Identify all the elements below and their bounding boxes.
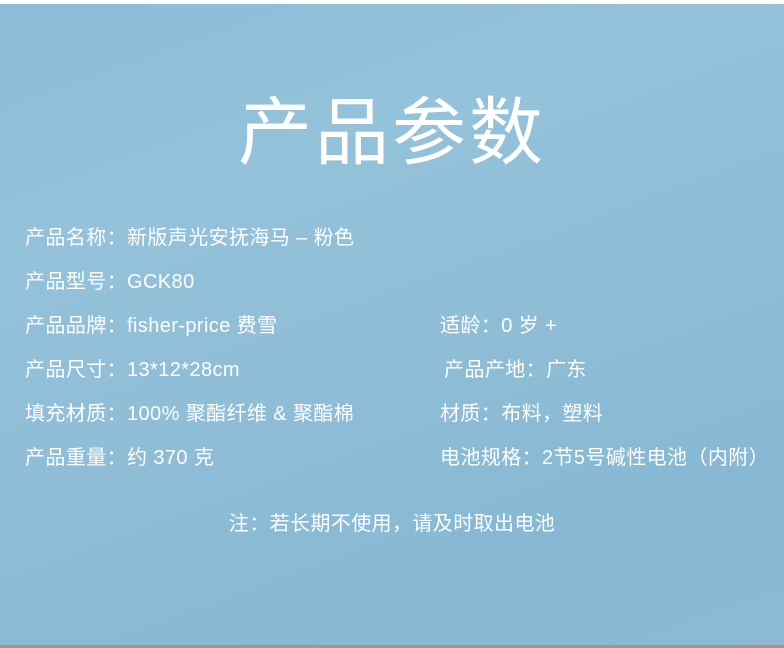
table-row: 产品型号：GCK80 [0, 268, 784, 312]
spec-filling-material: 填充材质：100% 聚酯纤维 & 聚酯棉 [25, 400, 354, 428]
table-row: 产品重量：约 370 克 电池规格：2节5号碱性电池（内附） [0, 444, 784, 488]
table-row: 产品品牌：fisher-price 费雪 适龄：0 岁 + [0, 312, 784, 356]
spec-product-size: 产品尺寸：13*12*28cm [25, 356, 240, 384]
spec-battery-spec: 电池规格：2节5号碱性电池（内附） [440, 444, 769, 472]
spec-suitable-age: 适龄：0 岁 + [440, 312, 557, 340]
table-row: 产品尺寸：13*12*28cm 产品产地：广东 [0, 356, 784, 400]
spec-product-model: 产品型号：GCK80 [25, 268, 195, 296]
spec-product-brand: 产品品牌：fisher-price 费雪 [25, 312, 277, 340]
spec-product-weight: 产品重量：约 370 克 [25, 444, 214, 472]
footer-note: 注：若长期不使用，请及时取出电池 [0, 510, 784, 538]
top-edge-strip [0, 0, 784, 4]
spec-table: 产品名称：新版声光安抚海马 – 粉色 产品型号：GCK80 产品品牌：fishe… [0, 224, 784, 488]
table-row: 产品名称：新版声光安抚海马 – 粉色 [0, 224, 784, 268]
spec-place-of-origin: 产品产地：广东 [444, 356, 587, 384]
spec-material: 材质：布料，塑料 [440, 400, 603, 428]
table-row: 填充材质：100% 聚酯纤维 & 聚酯棉 材质：布料，塑料 [0, 400, 784, 444]
page-title: 产品参数 [0, 92, 784, 174]
spec-product-name: 产品名称：新版声光安抚海马 – 粉色 [25, 224, 354, 252]
product-spec-page: 产品参数 产品名称：新版声光安抚海马 – 粉色 产品型号：GCK80 产品品牌：… [0, 0, 784, 648]
